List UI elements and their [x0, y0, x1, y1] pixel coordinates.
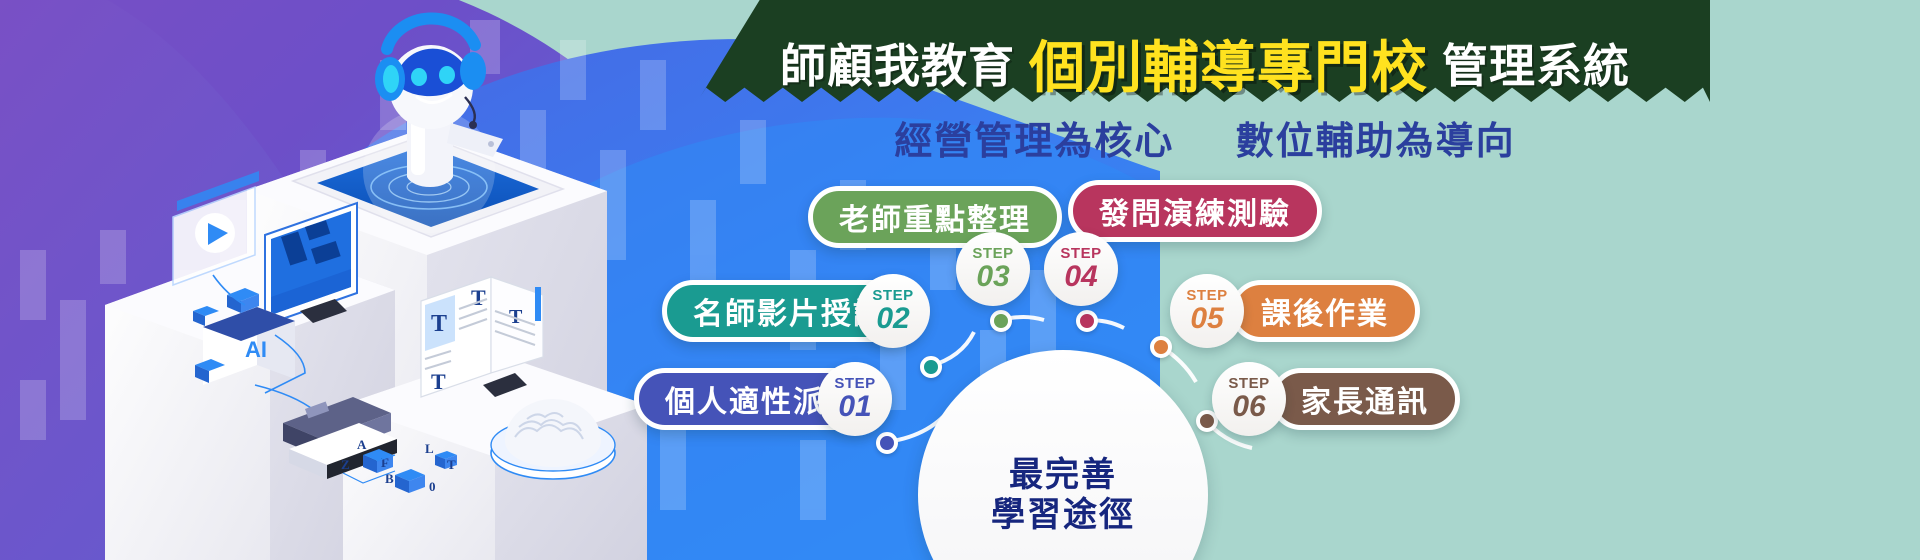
step-badge-05-num: 05	[1190, 304, 1223, 334]
step-badge-01-num: 01	[838, 392, 871, 422]
learning-path-roadmap: 最完善 學習途徑 個人適性派課 STEP 01 名師影片授課 STEP 02	[600, 170, 1920, 560]
step-badge-02-word: STEP	[872, 288, 913, 303]
step-pill-03[interactable]: 老師重點整理	[808, 186, 1062, 248]
step-pill-04[interactable]: 發問演練測驗	[1068, 180, 1322, 242]
svg-text:T: T	[447, 457, 456, 472]
step-pill-05-label: 課後作業	[1261, 289, 1389, 333]
step-badge-03-num: 03	[976, 262, 1009, 292]
banner-suffix: 管理系統	[1442, 30, 1630, 96]
subtitle-right: 數位輔助為導向	[1236, 121, 1516, 163]
step-badge-06-num: 06	[1232, 392, 1265, 422]
svg-text:T: T	[431, 369, 446, 394]
svg-text:AI: AI	[245, 337, 267, 362]
banner-brand: 師顧我教育	[780, 30, 1015, 96]
step-badge-02[interactable]: STEP 02	[856, 274, 930, 348]
svg-text:0: 0	[429, 479, 436, 494]
roadmap-node-05	[1150, 336, 1172, 358]
svg-text:A: A	[357, 437, 367, 452]
isometric-illustration: AI T T T T	[95, 5, 655, 560]
hub-line-2: 學習途徑	[991, 495, 1135, 535]
step-badge-01-word: STEP	[834, 376, 875, 391]
svg-text:T: T	[471, 285, 486, 310]
banner-subtitle: 經營管理為核心 數位輔助為導向	[700, 110, 1710, 165]
roadmap-node-04	[1076, 310, 1098, 332]
step-badge-04-num: 04	[1064, 262, 1097, 292]
step-pill-04-label: 發問演練測驗	[1099, 189, 1291, 233]
step-badge-03-word: STEP	[972, 246, 1013, 261]
step-badge-05[interactable]: STEP 05	[1170, 274, 1244, 348]
step-pill-05[interactable]: 課後作業	[1230, 280, 1420, 342]
step-badge-01[interactable]: STEP 01	[818, 362, 892, 436]
hub-line-1: 最完善	[1009, 455, 1117, 495]
banner-title: 師顧我教育 個別輔導專門校 管理系統	[700, 28, 1710, 98]
step-badge-05-word: STEP	[1186, 288, 1227, 303]
banner-highlight: 個別輔導專門校	[1029, 23, 1428, 104]
roadmap-node-01	[876, 432, 898, 454]
svg-text:Z: Z	[341, 457, 350, 472]
ai-robot	[363, 18, 503, 233]
step-pill-06-label: 家長通訊	[1301, 377, 1429, 421]
step-badge-04-word: STEP	[1060, 246, 1101, 261]
svg-text:T: T	[431, 311, 447, 337]
step-badge-06[interactable]: STEP 06	[1212, 362, 1286, 436]
banner-root: AI T T T T	[0, 0, 1920, 560]
step-badge-02-num: 02	[876, 304, 909, 334]
step-badge-04[interactable]: STEP 04	[1044, 232, 1118, 306]
step-pill-06[interactable]: 家長通訊	[1270, 368, 1460, 430]
svg-text:L: L	[425, 441, 434, 456]
step-badge-03[interactable]: STEP 03	[956, 232, 1030, 306]
roadmap-node-03	[990, 310, 1012, 332]
roadmap-node-02	[920, 356, 942, 378]
subtitle-left: 經營管理為核心	[894, 121, 1174, 163]
step-badge-06-word: STEP	[1228, 376, 1269, 391]
